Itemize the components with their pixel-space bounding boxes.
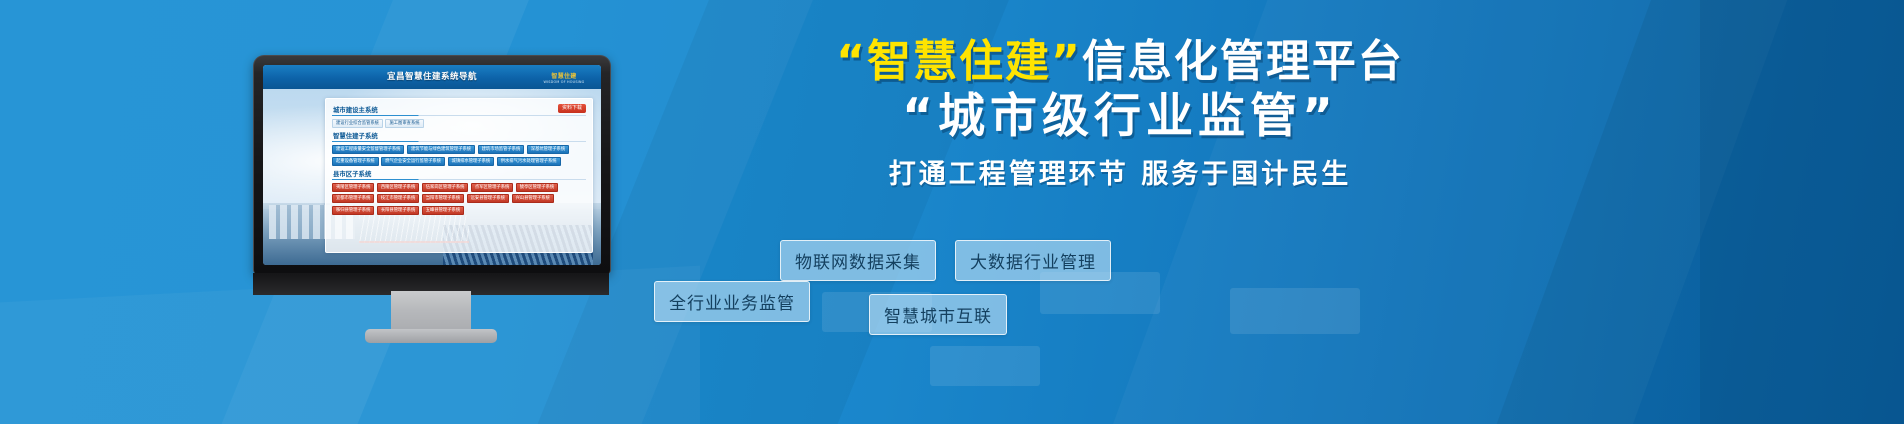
screen-content: 宜昌智慧住建系统导航 智慧住建 WISDOM OF HOUSING 资料下载 城… xyxy=(263,65,601,265)
imac-monitor-illustration: 宜昌智慧住建系统导航 智慧住建 WISDOM OF HOUSING 资料下载 城… xyxy=(253,55,609,305)
section-title: 城市建设主系统 xyxy=(333,105,586,114)
monitor-bezel: 宜昌智慧住建系统导航 智慧住建 WISDOM OF HOUSING 资料下载 城… xyxy=(253,55,611,274)
tag-iot-data-collection[interactable]: 物联网数据采集 xyxy=(780,240,936,281)
headline-rest: 信息化管理平台 xyxy=(1082,36,1404,87)
section-items: 建设工程质量安全监督管理子系统 建筑节能与绿色建筑管理子系统 建筑市场监管子系统… xyxy=(332,145,586,166)
nav-chip[interactable]: 秭归县管理子系统 xyxy=(332,206,374,215)
headline-line-2: “城市级行业监管” xyxy=(640,92,1600,143)
section-divider xyxy=(332,115,586,116)
screen-logo-sub: WISDOM OF HOUSING xyxy=(544,80,585,84)
tag-smart-city-interconnect[interactable]: 智慧城市互联 xyxy=(869,294,1007,335)
nav-chip[interactable]: 建设行业综合监管系统 xyxy=(332,119,383,128)
nav-panel: 资料下载 城市建设主系统 建设行业综合监管系统 施工图审查系统 智慧住建子系统 xyxy=(325,98,593,253)
nav-chip[interactable]: 远安县管理子系统 xyxy=(467,194,509,203)
decor-ghost-4 xyxy=(930,346,1040,386)
nav-chip[interactable]: 五峰县管理子系统 xyxy=(422,206,464,215)
nav-chip[interactable]: 深基坑管理子系统 xyxy=(527,145,569,154)
promo-banner: 宜昌智慧住建系统导航 智慧住建 WISDOM OF HOUSING 资料下载 城… xyxy=(0,0,1904,424)
section-divider xyxy=(332,179,586,180)
headline-block: “智慧住建”信息化管理平台 “城市级行业监管” 打通工程管理环节 服务于国计民生 xyxy=(640,38,1600,191)
section-items: 夷陵区管理子系统 西陵区管理子系统 伍家岗区管理子系统 点军区管理子系统 猇亭区… xyxy=(332,183,586,215)
nav-chip[interactable]: 猇亭区管理子系统 xyxy=(516,183,558,192)
section-title: 县市区子系统 xyxy=(333,169,586,178)
nav-chip[interactable]: 兴山县管理子系统 xyxy=(512,194,554,203)
headline-line-1: “智慧住建”信息化管理平台 xyxy=(640,38,1600,86)
headline-subtitle: 打通工程管理环节 服务于国计民生 xyxy=(640,152,1600,191)
monitor-screen: 宜昌智慧住建系统导航 智慧住建 WISDOM OF HOUSING 资料下载 城… xyxy=(263,65,601,265)
tag-all-industry-supervision[interactable]: 全行业业务监管 xyxy=(654,281,810,322)
tag-bigdata-industry-management[interactable]: 大数据行业管理 xyxy=(955,240,1111,281)
section-items: 建设行业综合监管系统 施工图审查系统 xyxy=(332,119,586,128)
nav-chip[interactable]: 城镇排水管理子系统 xyxy=(448,157,495,166)
nav-chip[interactable]: 西陵区管理子系统 xyxy=(377,183,419,192)
headline-highlight: “智慧住建” xyxy=(836,36,1082,87)
nav-section-district: 县市区子系统 夷陵区管理子系统 西陵区管理子系统 伍家岗区管理子系统 点军区管理… xyxy=(332,169,586,215)
screen-logo: 智慧住建 WISDOM OF HOUSING xyxy=(533,68,595,86)
monitor-stand-base xyxy=(365,329,497,343)
decor-facet-7 xyxy=(1700,0,1904,424)
section-title: 智慧住建子系统 xyxy=(333,131,586,140)
nav-chip[interactable]: 建设工程质量安全监督管理子系统 xyxy=(332,145,404,154)
nav-chip[interactable]: 枝江市管理子系统 xyxy=(377,194,419,203)
nav-section-sub: 智慧住建子系统 建设工程质量安全监督管理子系统 建筑节能与绿色建筑管理子系统 建… xyxy=(332,131,586,166)
nav-chip[interactable]: 伍家岗区管理子系统 xyxy=(422,183,469,192)
nav-chip[interactable]: 点军区管理子系统 xyxy=(471,183,513,192)
nav-chip[interactable]: 长阳县管理子系统 xyxy=(377,206,419,215)
nav-chip[interactable]: 起重设备管理子系统 xyxy=(332,157,379,166)
section-divider xyxy=(332,141,586,142)
screen-logo-main: 智慧住建 xyxy=(551,71,576,80)
decor-ghost-3 xyxy=(1230,288,1360,334)
nav-section-main: 城市建设主系统 建设行业综合监管系统 施工图审查系统 xyxy=(332,105,586,128)
nav-chip[interactable]: 燃气企业安全运行监管子系统 xyxy=(381,157,445,166)
nav-chip[interactable]: 施工图审查系统 xyxy=(385,119,423,128)
nav-chip[interactable]: 供水排气污水处理管理子系统 xyxy=(497,157,561,166)
nav-chip[interactable]: 建筑节能与绿色建筑管理子系统 xyxy=(407,145,475,154)
apple-logo-icon xyxy=(422,300,440,322)
nav-chip[interactable]: 宜都市管理子系统 xyxy=(332,194,374,203)
download-button[interactable]: 资料下载 xyxy=(558,104,586,113)
nav-chip[interactable]: 当阳市管理子系统 xyxy=(422,194,464,203)
nav-chip[interactable]: 夷陵区管理子系统 xyxy=(332,183,374,192)
nav-chip[interactable]: 建筑市场监管子系统 xyxy=(478,145,525,154)
